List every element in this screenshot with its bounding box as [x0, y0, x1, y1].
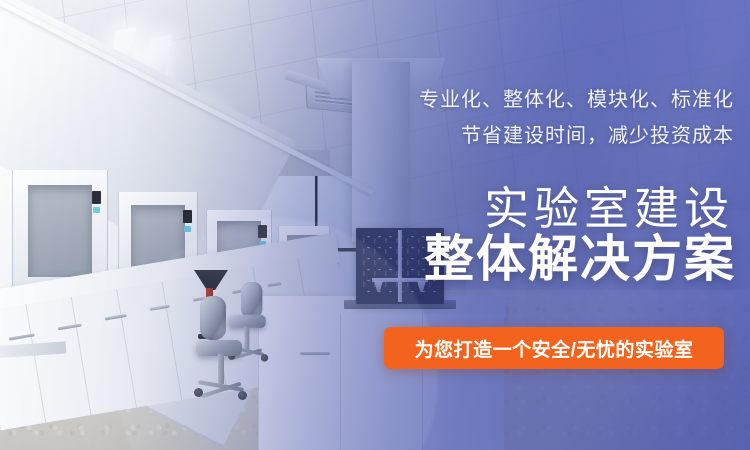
kicker-line-2: 节省建设时间，减少投资成本	[461, 126, 734, 146]
headline-primary: 实验室建设	[484, 186, 734, 231]
cta-button[interactable]: 为您打造一个安全/无忧的实验室	[384, 327, 724, 369]
headline-secondary: 整体解决方案	[424, 234, 736, 284]
kicker-line-1: 专业化、整体化、模块化、标准化	[419, 90, 734, 110]
banner-copy: 专业化、整体化、模块化、标准化 节省建设时间，减少投资成本 实验室建设 整体解决…	[306, 0, 736, 450]
hero-banner: 专业化、整体化、模块化、标准化 节省建设时间，减少投资成本 实验室建设 整体解决…	[0, 0, 750, 450]
